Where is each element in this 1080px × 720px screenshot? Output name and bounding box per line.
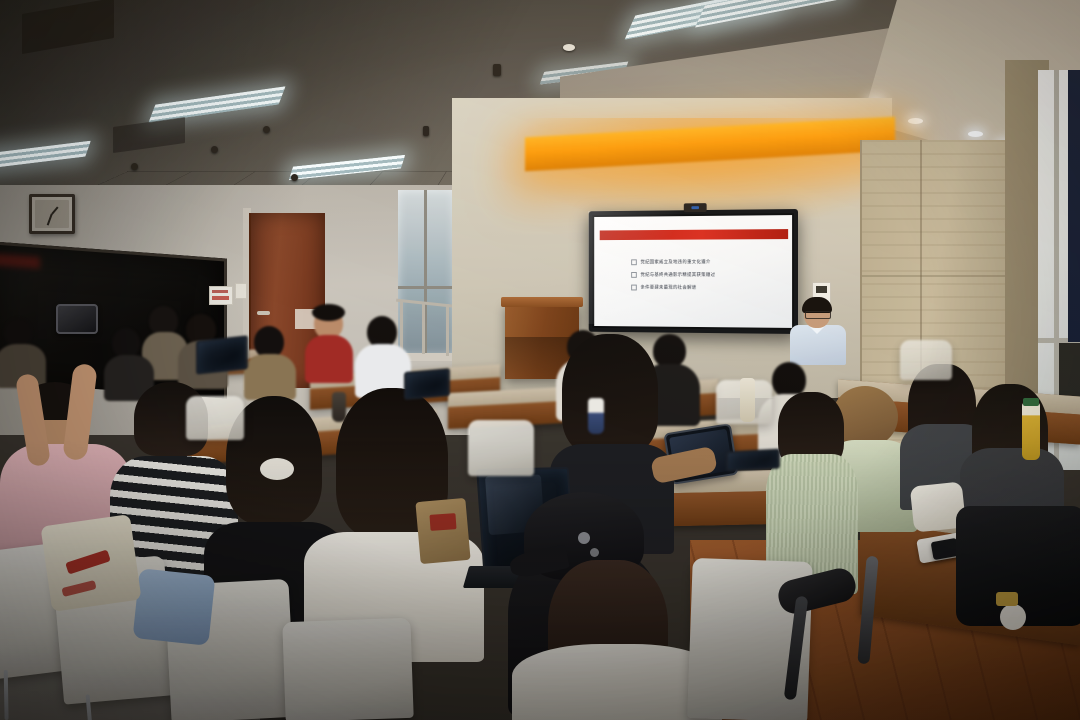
presenter-standing — [788, 300, 850, 362]
list-item: 党纪与基终共通影示精提其获策顺过 — [631, 272, 784, 278]
window-blind — [1068, 70, 1080, 342]
conference-room-photo: 党纪国家威立及地违的重文化遵介 党纪与基终共通影示精提其获策顺过 条件要建未最现… — [0, 0, 1080, 720]
recessed-downlight — [968, 131, 983, 137]
conference-chair[interactable] — [468, 420, 534, 476]
bag-buckle — [996, 592, 1018, 606]
denim-jacket — [133, 568, 216, 646]
white-tote-bag — [415, 498, 470, 564]
hair-scrunchie — [260, 458, 294, 480]
slide-bullet-list: 党纪国家威立及地违的重文化遵介 党纪与基终共通影示精提其获策顺过 条件要建未最现… — [631, 259, 784, 298]
beverage-bottle-clear — [740, 378, 755, 422]
slide-bullet-text: 党纪与基终共通影示精提其获策顺过 — [641, 272, 716, 277]
slide-bullet-text: 党纪国家威立及地违的重文化遵介 — [641, 260, 711, 265]
presentation-display[interactable]: 党纪国家威立及地违的重文化遵介 党纪与基终共通影示精提其获策顺过 条件要建未最现… — [589, 209, 798, 334]
slide-bullet-text: 条件要建未最现的社会解进 — [641, 285, 697, 290]
attendee-red-shirt — [306, 308, 352, 378]
square-bullet-icon — [631, 285, 637, 291]
conference-chair[interactable] — [900, 340, 952, 380]
list-item: 党纪国家威立及地违的重文化遵介 — [631, 259, 784, 265]
bottle-cap — [1023, 398, 1039, 406]
square-bullet-icon — [631, 272, 637, 278]
laptop-backrow[interactable] — [404, 368, 450, 400]
laptop-closed[interactable] — [726, 449, 780, 472]
conference-camera-icon — [684, 203, 707, 212]
list-item: 条件要建未最现的社会解进 — [631, 285, 784, 291]
square-bullet-icon — [631, 259, 637, 265]
cup-on-desk — [332, 392, 346, 422]
attendee-white-shirt — [355, 316, 409, 394]
tote-bag-logo — [429, 513, 456, 531]
laptop-midrow[interactable] — [196, 335, 248, 374]
bag-charm — [1000, 604, 1026, 630]
slide-heading-bar — [600, 229, 788, 240]
beverage-bottle-amber — [1022, 402, 1040, 460]
smartphone-raised[interactable] — [56, 304, 98, 334]
attendee-sage-sweater — [770, 398, 850, 588]
presentation-slide: 党纪国家威立及地违的重文化遵介 党纪与基终共通影示精提其获策顺过 条件要建未最现… — [594, 215, 792, 328]
conference-chair[interactable] — [186, 396, 244, 440]
tumbler-on-desk — [588, 398, 604, 434]
conference-chair[interactable] — [282, 618, 413, 720]
eyeglasses-icon — [805, 311, 831, 319]
attendee-olive-jacket — [244, 326, 294, 394]
